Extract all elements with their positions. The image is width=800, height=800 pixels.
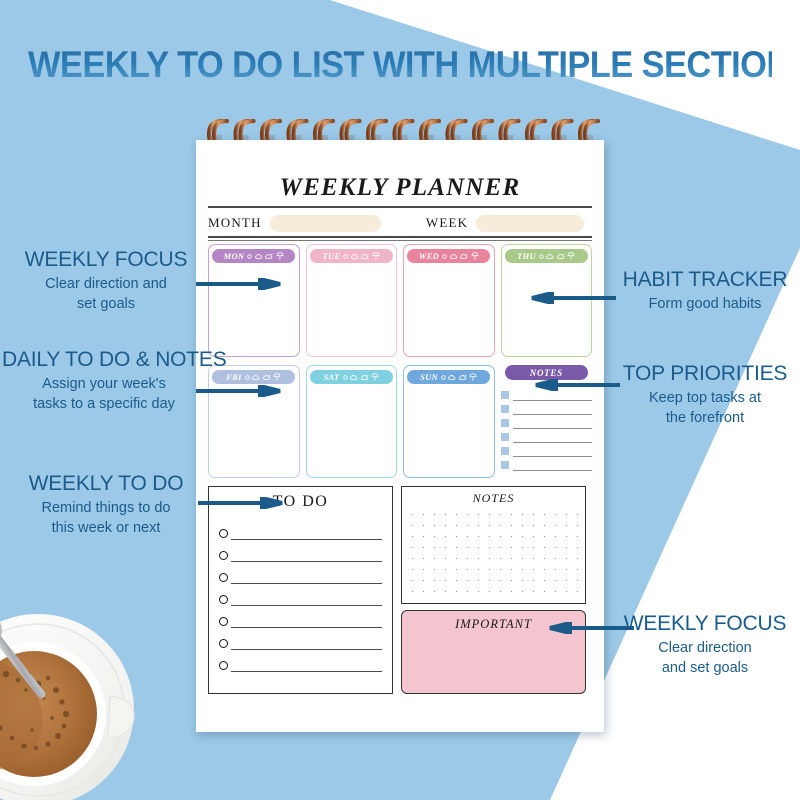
umbrella-icon — [371, 373, 379, 381]
cloud-icon — [351, 253, 360, 260]
day-label: MON — [224, 251, 245, 261]
day-pill-mon: MON — [212, 249, 295, 263]
annotation-subtitle: Clear directionand set goals — [612, 639, 798, 678]
cloud-icon — [448, 374, 457, 381]
weather-icons — [440, 373, 478, 381]
todo-item[interactable] — [219, 606, 382, 628]
priority-item[interactable] — [501, 443, 592, 457]
priority-checkbox[interactable] — [501, 461, 509, 469]
weather-icons — [538, 252, 576, 260]
annotation-title: WEEKLY FOCUS — [8, 248, 204, 272]
day-pill-tue: TUE — [310, 249, 393, 263]
coffee-cup-image — [0, 588, 182, 800]
weather-icons — [441, 252, 479, 260]
notes-title: NOTES — [408, 491, 579, 506]
priority-item[interactable] — [501, 429, 592, 443]
cloud-icon — [450, 253, 459, 260]
day-pill-thu: THU — [505, 249, 588, 263]
umbrella-icon — [372, 252, 380, 260]
annotation-subtitle: Remind things to dothis week or next — [8, 499, 204, 538]
cloud-icon — [255, 253, 264, 260]
priority-checkbox[interactable] — [501, 391, 509, 399]
annotation-title: WEEKLY FOCUS — [612, 612, 798, 636]
sun-icon — [538, 253, 545, 260]
cloud-icon — [252, 374, 261, 381]
sun-icon — [342, 253, 349, 260]
cloud-icon — [546, 253, 555, 260]
todo-line — [231, 671, 382, 672]
priority-line — [513, 414, 592, 415]
day-card-sun[interactable]: SUN — [403, 365, 495, 478]
priority-checkbox[interactable] — [501, 405, 509, 413]
sun-icon — [441, 253, 448, 260]
day-label: THU — [517, 251, 536, 261]
day-label: TUE — [323, 251, 341, 261]
annotation-weekly-focus-right: WEEKLY FOCUS Clear directionand set goal… — [612, 612, 798, 678]
cloud-sun-icon — [361, 253, 370, 260]
todo-item[interactable] — [219, 650, 382, 672]
planner-title: WEEKLY PLANNER — [196, 174, 604, 202]
todo-item[interactable] — [219, 518, 382, 540]
day-card-wed[interactable]: WED — [403, 244, 495, 357]
todo-item[interactable] — [219, 562, 382, 584]
todo-item[interactable] — [219, 628, 382, 650]
umbrella-icon — [471, 252, 479, 260]
priority-item[interactable] — [501, 415, 592, 429]
todo-checkbox[interactable] — [219, 529, 228, 538]
bottom-section: TO DO NOTES IMPORTANT — [208, 486, 592, 694]
page-title: WEEKLY TO DO LIST WITH MULTIPLE SECTIONS — [28, 44, 772, 86]
planner-page: WEEKLY PLANNER MONTH WEEK MONTUEWEDTHU F… — [196, 140, 604, 732]
cloud-sun-icon — [265, 253, 274, 260]
priority-item[interactable] — [501, 457, 592, 471]
todo-checkbox[interactable] — [219, 639, 228, 648]
day-label: FRI — [226, 372, 242, 382]
cloud-sun-icon — [460, 253, 469, 260]
todo-line — [231, 583, 382, 584]
day-pill-wed: WED — [407, 249, 490, 263]
priority-line — [513, 400, 592, 401]
arrow-to-important — [548, 622, 634, 634]
annotation-daily-todo-notes: DAILY TO DO & NOTES Assign your week'sta… — [2, 348, 206, 414]
weather-icons — [244, 373, 282, 381]
day-card-fri[interactable]: FRI — [208, 365, 300, 478]
todo-checkbox[interactable] — [219, 551, 228, 560]
notes-box[interactable]: NOTES — [401, 486, 586, 604]
day-card-mon[interactable]: MON — [208, 244, 300, 357]
annotation-subtitle: Assign your week'stasks to a specific da… — [2, 375, 206, 414]
priorities-title: NOTES — [505, 365, 588, 380]
day-pill-sat: SAT — [310, 370, 393, 384]
week-input[interactable] — [476, 215, 584, 232]
annotation-weekly-focus-left: WEEKLY FOCUS Clear direction andset goal… — [8, 248, 204, 314]
todo-line — [231, 539, 382, 540]
dot-grid — [407, 509, 580, 599]
arrow-to-top-priorities — [534, 379, 620, 391]
cloud-sun-icon — [263, 374, 272, 381]
todo-checkbox[interactable] — [219, 617, 228, 626]
todo-checkbox[interactable] — [219, 573, 228, 582]
sun-icon — [244, 374, 251, 381]
month-input[interactable] — [270, 215, 382, 232]
arrow-to-weekly-todo — [198, 497, 284, 509]
sun-icon — [440, 374, 447, 381]
arrow-to-daily-todo — [196, 385, 282, 397]
sun-icon — [342, 374, 349, 381]
annotation-title: WEEKLY TO DO — [8, 472, 204, 496]
month-week-row: MONTH WEEK — [208, 212, 592, 234]
day-pill-fri: FRI — [212, 370, 295, 384]
priority-item[interactable] — [501, 401, 592, 415]
priority-checkbox[interactable] — [501, 419, 509, 427]
priority-line — [513, 428, 592, 429]
weekly-todo-box[interactable]: TO DO — [208, 486, 393, 694]
todo-line — [231, 605, 382, 606]
annotation-weekly-todo: WEEKLY TO DO Remind things to dothis wee… — [8, 472, 204, 538]
annotation-title: TOP PRIORITIES — [610, 362, 800, 386]
annotation-top-priorities: TOP PRIORITIES Keep top tasks atthe fore… — [610, 362, 800, 428]
day-card-sat[interactable]: SAT — [306, 365, 398, 478]
todo-item[interactable] — [219, 540, 382, 562]
weather-icons — [342, 252, 380, 260]
weather-icons — [246, 252, 284, 260]
priority-line — [513, 456, 592, 457]
umbrella-icon — [273, 373, 281, 381]
month-label: MONTH — [208, 215, 262, 231]
cloud-sun-icon — [557, 253, 566, 260]
priority-checkbox[interactable] — [501, 447, 509, 455]
arrow-to-weekly-focus — [196, 278, 282, 290]
todo-line — [231, 561, 382, 562]
annotation-subtitle: Clear direction andset goals — [8, 275, 204, 314]
day-label: SUN — [420, 372, 438, 382]
day-label: SAT — [324, 372, 340, 382]
todo-item[interactable] — [219, 584, 382, 606]
todo-line — [231, 627, 382, 628]
day-card-tue[interactable]: TUE — [306, 244, 398, 357]
priority-line — [513, 470, 592, 471]
priority-list — [501, 387, 592, 471]
cloud-sun-icon — [361, 374, 370, 381]
annotation-habit-tracker: HABIT TRACKER Form good habits — [612, 268, 798, 315]
annotation-subtitle: Form good habits — [612, 295, 798, 315]
priority-checkbox[interactable] — [501, 433, 509, 441]
annotation-title: HABIT TRACKER — [612, 268, 798, 292]
umbrella-icon — [567, 252, 575, 260]
arrow-to-habit-tracker — [530, 292, 616, 304]
annotation-subtitle: Keep top tasks atthe forefront — [610, 389, 800, 428]
annotation-title: DAILY TO DO & NOTES — [2, 348, 206, 372]
weather-icons — [342, 373, 380, 381]
todo-checkbox[interactable] — [219, 661, 228, 670]
cloud-icon — [350, 374, 359, 381]
umbrella-icon — [469, 373, 477, 381]
day-label: WED — [419, 251, 439, 261]
todo-line — [231, 649, 382, 650]
umbrella-icon — [276, 252, 284, 260]
cloud-sun-icon — [459, 374, 468, 381]
day-pill-sun: SUN — [407, 370, 490, 384]
todo-checkbox[interactable] — [219, 595, 228, 604]
poster-canvas: WEEKLY TO DO LIST WITH MULTIPLE SECTIONS — [0, 0, 800, 800]
week-label: WEEK — [426, 215, 468, 231]
sun-icon — [246, 253, 253, 260]
priority-line — [513, 442, 592, 443]
